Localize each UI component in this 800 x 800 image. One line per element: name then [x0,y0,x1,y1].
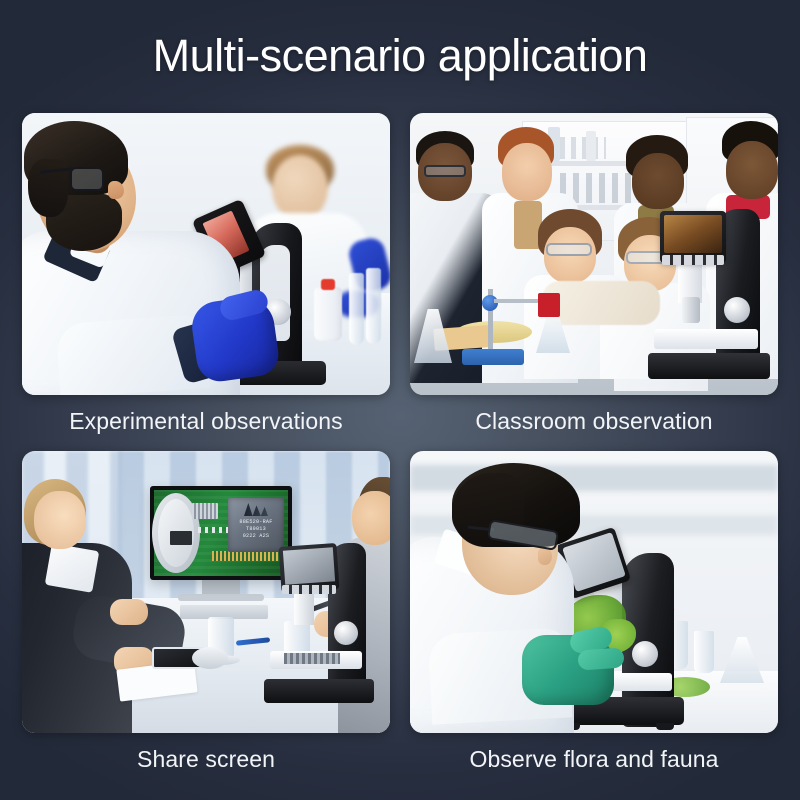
microscope-sample-slide [284,653,340,664]
test-tube [366,268,381,344]
chip-label-line-3: 0222 A2S [228,533,284,540]
researcher-nose [108,181,124,199]
student-head [502,143,552,201]
caption-observe-flora-and-fauna: Observe flora and fauna [410,746,778,773]
retort-stand-base [462,349,524,365]
microscope-control-buttons[interactable] [282,585,336,594]
photo-observe-flora-and-fauna[interactable] [410,451,778,733]
reagent-bottle [314,287,342,341]
microscope-column [294,591,314,625]
microscope-control-buttons[interactable] [662,255,724,265]
microscope-base [648,353,770,379]
attendee-left-collar [45,543,100,593]
safety-goggles-icon [546,243,592,256]
pcb-gold-fingers [212,551,284,561]
glass-vial [694,631,714,673]
caption-experimental-observations: Experimental observations [22,408,390,435]
scenario-card-share-screen[interactable]: 88E520-RAF T89013 0222 A2S [22,451,390,781]
microscope-specimen-image [283,547,335,584]
table-ring-object [192,647,228,669]
microscope-lens [682,297,700,323]
microscope-focus-knob [632,641,658,667]
photo-experimental-observations[interactable] [22,113,390,395]
pcb-component [170,531,192,545]
background-colleague-head [272,155,328,221]
scenario-grid: Experimental observations [22,113,778,781]
microscope-base [264,679,374,703]
chip-label: 88E520-RAF T89013 0222 A2S [228,519,284,540]
caption-share-screen: Share screen [22,746,390,773]
green-glove-finger [577,647,624,670]
attendee-left-head [34,491,86,549]
teacher-glasses-icon [424,165,466,177]
pcb-smd-row [198,527,232,533]
photo-classroom-observation[interactable] [410,113,778,395]
microscope-focus-knob [334,621,358,645]
shelf-jar [586,131,596,161]
attendee-right-head [352,491,390,545]
scenario-card-experimental-observations[interactable]: Experimental observations [22,113,390,443]
chip-label-line-2: T89013 [228,526,284,533]
photo-share-screen[interactable]: 88E520-RAF T89013 0222 A2S [22,451,390,733]
test-tube [349,273,364,345]
chip-label-line-1: 88E520-RAF [228,519,284,526]
microscope-focus-knob [724,297,750,323]
page-title: Multi-scenario application [0,30,800,82]
attendee-left-hand [110,599,148,625]
retort-stand-ball [482,295,498,311]
microscope-stage [654,329,758,349]
caption-classroom-observation: Classroom observation [410,408,778,435]
scenario-card-observe-flora-and-fauna[interactable]: Observe flora and fauna [410,451,778,781]
scenario-card-classroom-observation[interactable]: Classroom observation [410,113,778,443]
pcb-component [192,503,218,519]
conical-flask [720,637,764,683]
reagent-bottle-cap [321,279,335,290]
red-reagent-block [538,293,560,317]
microscope-foot [656,723,674,730]
student-head [726,141,778,199]
microscope-specimen-image [664,215,722,253]
monitor-foot [178,594,264,601]
eyeglasses-lens [70,167,104,191]
student-head [632,153,684,209]
